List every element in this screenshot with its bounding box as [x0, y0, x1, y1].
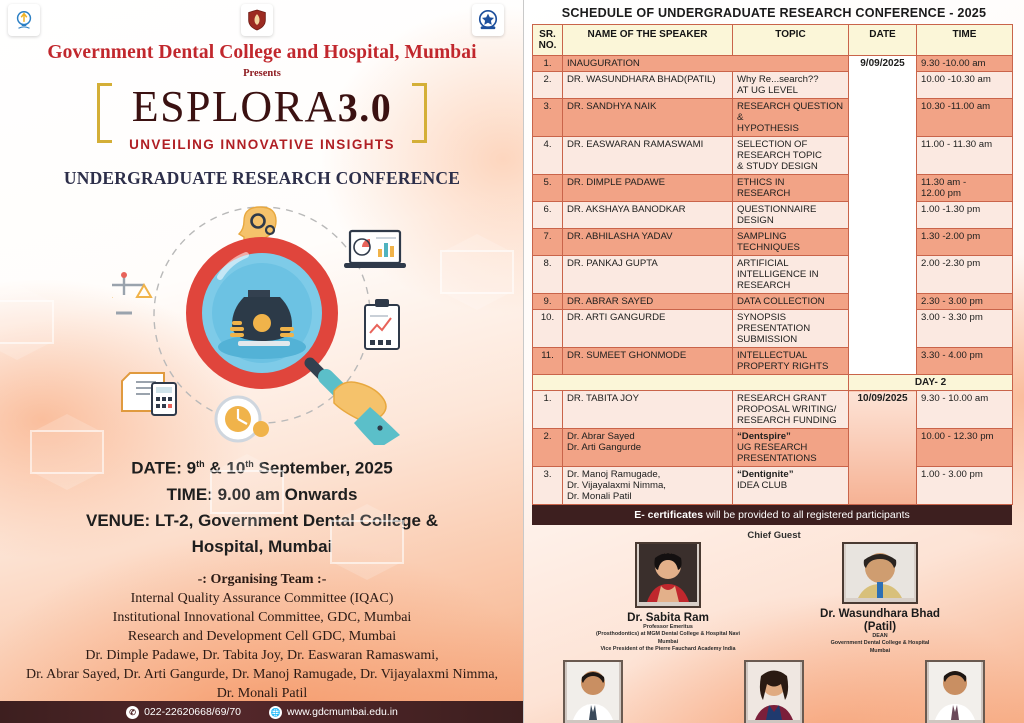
cell-speaker: DR. SANDHYA NAIK — [563, 99, 733, 137]
table-row: 2.Dr. Abrar SayedDr. Arti Gangurde“Dents… — [533, 429, 1013, 467]
document-calculator-icon — [122, 373, 176, 415]
gdch-crest-logo — [241, 4, 273, 36]
organiser-card: Dr. Arti Gangurde CHAIRPERSON Research &… — [705, 660, 844, 723]
date-sup1: th — [196, 459, 205, 469]
logo-row — [0, 0, 524, 40]
table-row: 3.Dr. Manoj Ramugade,Dr. Vijayalaxmi Nim… — [533, 467, 1013, 505]
date-day1: 9 — [187, 459, 196, 478]
day-sep-blank — [533, 375, 849, 391]
col-sr-no: SR. NO. — [533, 25, 563, 56]
cell-topic: “Dentspire”UG RESEARCHPRESENTATIONS — [733, 429, 849, 467]
col-time: TIME — [917, 25, 1013, 56]
cell-speaker: Dr. Manoj Ramugade,Dr. Vijayalaxmi Nimma… — [563, 467, 733, 505]
cell-topic: RESEARCH QUESTION &HYPOTHESIS — [733, 99, 849, 137]
cell-topic: SAMPLING TECHNIQUES — [733, 229, 849, 256]
table-row: 1.INAUGURATION9/09/20259.30 -10.00 am — [533, 56, 1013, 72]
schedule-table: SR. NO. NAME OF THE SPEAKER TOPIC DATE T… — [532, 24, 1013, 505]
cell-topic: SELECTION OFRESEARCH TOPIC& STUDY DESIGN — [733, 137, 849, 175]
organiser-card: Dr. Abrar Sayed CHAIRPERSON Institutiona… — [524, 660, 663, 723]
organising-team-line: Internal Quality Assurance Committee (IQ… — [0, 589, 524, 608]
cell-time: 9.30 - 10.00 am — [917, 391, 1013, 429]
cell-time: 1.00 -1.30 pm — [917, 202, 1013, 229]
cell-time: 2.30 - 3.00 pm — [917, 294, 1013, 310]
scales-icon — [112, 272, 151, 313]
website-url: www.gdcmumbai.edu.in — [287, 706, 398, 718]
cell-speaker: DR. AKSHAYA BANODKAR — [563, 202, 733, 229]
organiser-cards: Dr. Abrar Sayed CHAIRPERSON Institutiona… — [524, 660, 1024, 723]
guest-role-line1: Professor Emeritus — [593, 624, 743, 631]
cell-topic: QUESTIONNAIREDESIGN — [733, 202, 849, 229]
schedule-body: 1.INAUGURATION9/09/20259.30 -10.00 am2.D… — [533, 56, 1013, 505]
cell-sr-no: 6. — [533, 202, 563, 229]
date-label: DATE: — [131, 459, 182, 478]
phone-number: 022-22620668/69/70 — [144, 706, 241, 718]
cell-sr-no: 4. — [533, 137, 563, 175]
col-date: DATE — [849, 25, 917, 56]
cell-topic: INTELLECTUALPROPERTY RIGHTS — [733, 348, 849, 375]
guest-role-line2: Government Dental College & Hospital — [805, 640, 955, 647]
cell-speaker: DR. ARTI GANGURDE — [563, 310, 733, 348]
cell-topic: SYNOPSISPRESENTATIONSUBMISSION — [733, 310, 849, 348]
naac-star-logo — [472, 4, 504, 36]
table-row: 9.DR. ABRAR SAYEDDATA COLLECTION2.30 - 3… — [533, 294, 1013, 310]
clock-icon — [216, 397, 269, 441]
table-row: 8.DR. PANKAJ GUPTAARTIFICIALINTELLIGENCE… — [533, 256, 1013, 294]
guest-card: Dr. Sabita Ram Professor Emeritus (Prost… — [593, 542, 743, 655]
event-venue-line2: Hospital, Mumbai — [0, 534, 524, 560]
cell-date: 10/09/2025 — [849, 391, 917, 505]
cell-speaker: DR. PANKAJ GUPTA — [563, 256, 733, 294]
cell-time: 3.30 - 4.00 pm — [917, 348, 1013, 375]
cell-sr-no: 11. — [533, 348, 563, 375]
schedule-title: SCHEDULE OF UNDERGRADUATE RESEARCH CONFE… — [524, 0, 1024, 24]
table-row: 4.DR. EASWARAN RAMASWAMISELECTION OFRESE… — [533, 137, 1013, 175]
cell-topic-bold: “Dentspire” — [737, 431, 791, 442]
cell-speaker: DR. DIMPLE PADAWE — [563, 175, 733, 202]
table-row: 3.DR. SANDHYA NAIKRESEARCH QUESTION &HYP… — [533, 99, 1013, 137]
organising-team-line: Research and Development Cell GDC, Mumba… — [0, 627, 524, 646]
organiser-card: Dr. Manoj Ramugade MEMBER SECRETARY Rese… — [885, 660, 1024, 723]
avatar — [925, 660, 985, 723]
cell-time: 9.30 -10.00 am — [917, 56, 1013, 72]
website-contact[interactable]: 🌐 www.gdcmumbai.edu.in — [269, 706, 398, 719]
organising-team-line: Dr. Abrar Sayed, Dr. Arti Gangurde, Dr. … — [0, 665, 524, 684]
guest-role-line3: Mumbai — [805, 648, 955, 655]
guest-role-line2: (Prosthodontics) at MGM Dental College &… — [593, 631, 743, 646]
table-row: 7.DR. ABHILASHA YADAVSAMPLING TECHNIQUES… — [533, 229, 1013, 256]
clipboard-graph-icon — [365, 299, 399, 349]
ecertificate-banner: E- certificates will be provided to all … — [532, 505, 1012, 525]
guest-role-line1: DEAN — [805, 633, 955, 640]
cell-sr-no: 2. — [533, 72, 563, 99]
cell-topic: ETHICS INRESEARCH — [733, 175, 849, 202]
guest-role: Professor Emeritus (Prosthodontics) at M… — [593, 624, 743, 654]
cell-speaker: DR. WASUNDHARA BHAD(PATIL) — [563, 72, 733, 99]
iic-lightbulb-logo — [8, 4, 40, 36]
cell-topic: Why Re...search??AT UG LEVEL — [733, 72, 849, 99]
cell-speaker: DR. TABITA JOY — [563, 391, 733, 429]
cell-time: 3.00 - 3.30 pm — [917, 310, 1013, 348]
ecert-rest: will be provided to all registered parti… — [703, 509, 910, 521]
cell-topic-bold: “Dentignite” — [737, 469, 794, 480]
cell-sr-no: 3. — [533, 467, 563, 505]
avatar — [744, 660, 804, 723]
cell-speaker: DR. ABHILASHA YADAV — [563, 229, 733, 256]
cell-topic: RESEARCH GRANTPROPOSAL WRITING/RESEARCH … — [733, 391, 849, 429]
esplora-name: ESPLORA — [132, 82, 338, 131]
col-speaker: NAME OF THE SPEAKER — [563, 25, 733, 56]
cell-topic: “Dentignite” IDEA CLUB — [733, 467, 849, 505]
organising-team-line: Dr. Monali Patil — [0, 684, 524, 703]
conference-title: UNDERGRADUATE RESEARCH CONFERENCE — [0, 168, 524, 189]
cell-time: 2.00 -2.30 pm — [917, 256, 1013, 294]
avatar — [635, 542, 701, 608]
phone-contact[interactable]: ✆ 022-22620668/69/70 — [126, 706, 241, 719]
col-sr-label: SR. NO. — [539, 29, 557, 51]
table-row: 11.DR. SUMEET GHONMODEINTELLECTUALPROPER… — [533, 348, 1013, 375]
cell-speaker: DR. EASWARAN RAMASWAMI — [563, 137, 733, 175]
cell-speaker: DR. SUMEET GHONMODE — [563, 348, 733, 375]
cell-time: 10.30 -11.00 am — [917, 99, 1013, 137]
cell-speaker: INAUGURATION — [563, 56, 849, 72]
cell-time: 10.00 - 12.30 pm — [917, 429, 1013, 467]
globe-icon: 🌐 — [269, 706, 282, 719]
guest-name: Dr. Sabita Ram — [593, 611, 743, 624]
table-header-row: SR. NO. NAME OF THE SPEAKER TOPIC DATE T… — [533, 25, 1013, 56]
table-row: 6.DR. AKSHAYA BANODKARQUESTIONNAIREDESIG… — [533, 202, 1013, 229]
cell-topic: DATA COLLECTION — [733, 294, 849, 310]
poster-left-panel: Government Dental College and Hospital, … — [0, 0, 524, 723]
cell-time: 11.30 am -12.00 pm — [917, 175, 1013, 202]
table-row: 2.DR. WASUNDHARA BHAD(PATIL)Why Re...sea… — [533, 72, 1013, 99]
cell-sr-no: 3. — [533, 99, 563, 137]
chief-guests: Dr. Sabita Ram Professor Emeritus (Prost… — [524, 542, 1024, 655]
college-name: Government Dental College and Hospital, … — [0, 42, 524, 64]
cell-sr-no: 9. — [533, 294, 563, 310]
organising-team-heading: -: Organising Team :- — [0, 570, 524, 589]
presents-label: Presents — [0, 68, 524, 79]
organising-team-line: Dr. Dimple Padawe, Dr. Tabita Joy, Dr. E… — [0, 646, 524, 665]
gold-bracket-left — [97, 83, 112, 143]
laptop-charts-icon — [344, 231, 406, 268]
avatar — [842, 542, 918, 604]
cell-time: 10.00 -10.30 am — [917, 72, 1013, 99]
phone-icon: ✆ — [126, 706, 139, 719]
research-magnifier-illustration — [112, 195, 412, 445]
organising-team-line: Institutional Innovational Committee, GD… — [0, 608, 524, 627]
poster-right-panel: SCHEDULE OF UNDERGRADUATE RESEARCH CONFE… — [524, 0, 1024, 723]
esplora-version: 3.0 — [338, 85, 393, 130]
day2-label: DAY- 2 — [849, 375, 1013, 391]
cell-time: 11.00 - 11.30 am — [917, 137, 1013, 175]
table-row: 10.DR. ARTI GANGURDESYNOPSISPRESENTATION… — [533, 310, 1013, 348]
cell-speaker: Dr. Abrar SayedDr. Arti Gangurde — [563, 429, 733, 467]
gold-bracket-right — [412, 83, 427, 143]
guest-name: Dr. Wasundhara Bhad (Patil) — [805, 607, 955, 633]
table-row: 1.DR. TABITA JOYRESEARCH GRANTPROPOSAL W… — [533, 391, 1013, 429]
contact-bar: ✆ 022-22620668/69/70 🌐 www.gdcmumbai.edu… — [0, 701, 524, 723]
guest-role-line3: Vice President of the Pierre Fauchard Ac… — [593, 646, 743, 653]
chief-guest-label: Chief Guest — [524, 530, 1024, 541]
organising-team: -: Organising Team :- Internal Quality A… — [0, 570, 524, 703]
esplora-wordmark: ESPLORA3.0 — [97, 83, 427, 131]
cell-sr-no: 2. — [533, 429, 563, 467]
cell-topic: ARTIFICIALINTELLIGENCE INRESEARCH — [733, 256, 849, 294]
avatar — [563, 660, 623, 723]
ecert-bold: E- certificates — [634, 509, 703, 521]
esplora-logo: ESPLORA3.0 — [97, 83, 427, 141]
cell-date: 9/09/2025 — [849, 56, 917, 375]
cell-speaker: DR. ABRAR SAYED — [563, 294, 733, 310]
day-separator-row: DAY- 2 — [533, 375, 1013, 391]
col-topic: TOPIC — [733, 25, 849, 56]
cell-sr-no: 1. — [533, 391, 563, 429]
cell-sr-no: 8. — [533, 256, 563, 294]
cell-sr-no: 7. — [533, 229, 563, 256]
cell-sr-no: 10. — [533, 310, 563, 348]
cell-time: 1.30 -2.00 pm — [917, 229, 1013, 256]
cell-sr-no: 1. — [533, 56, 563, 72]
conference-poster: Government Dental College and Hospital, … — [0, 0, 1024, 723]
guest-card: Dr. Wasundhara Bhad (Patil) DEAN Governm… — [805, 542, 955, 655]
cell-sr-no: 5. — [533, 175, 563, 202]
guest-role: DEAN Government Dental College & Hospita… — [805, 633, 955, 655]
cell-time: 1.00 - 3.00 pm — [917, 467, 1013, 505]
table-row: 5.DR. DIMPLE PADAWEETHICS INRESEARCH11.3… — [533, 175, 1013, 202]
